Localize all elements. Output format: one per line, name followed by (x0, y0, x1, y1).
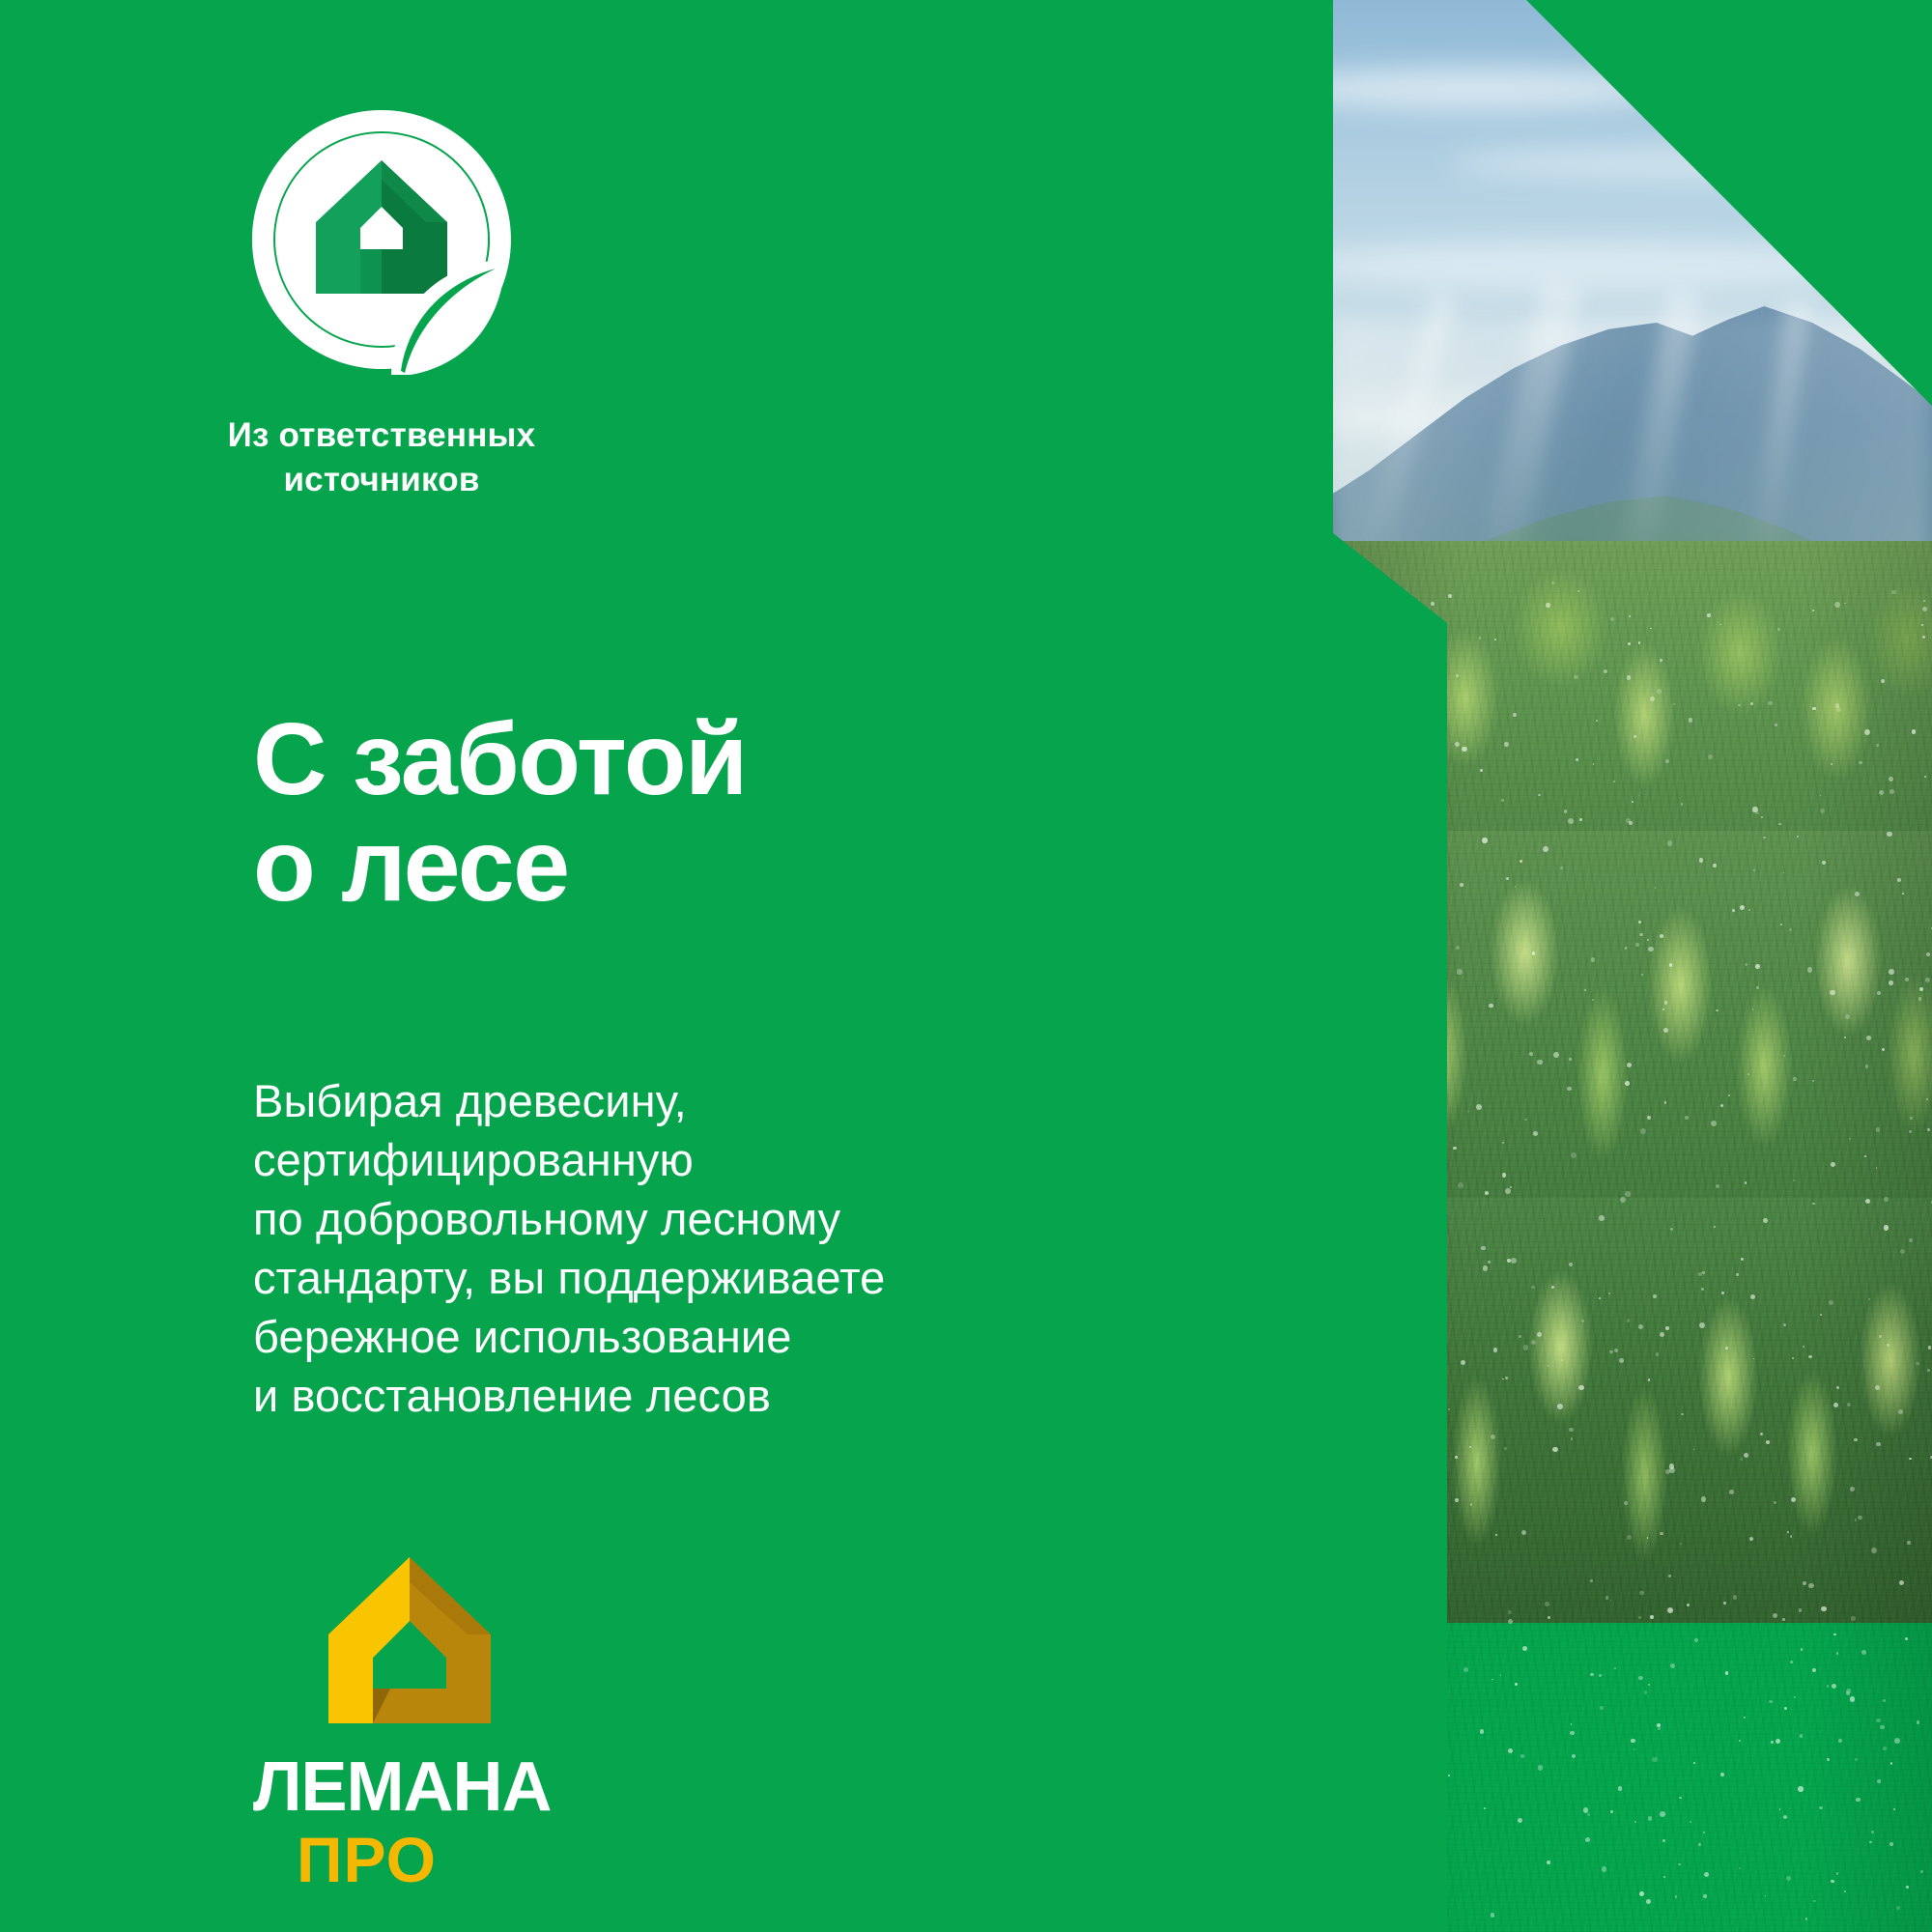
page-title: С заботой о лесе (253, 706, 1122, 919)
poster-root: Из ответственных источников С заботой о … (0, 0, 1932, 1932)
content-layer: Из ответственных источников С заботой о … (0, 0, 1449, 1932)
body-line-1: Выбирая древесину, (253, 1071, 1122, 1130)
body-line-2: сертифицированную (253, 1130, 1122, 1189)
brand-suffix-text: ПРО (297, 1824, 437, 1895)
eco-caption-line-1: Из ответственных (228, 416, 536, 454)
headline-line-1: С заботой (253, 702, 747, 816)
body-line-5: бережное использование (253, 1307, 1122, 1366)
lemana-house-icon (313, 1544, 506, 1737)
body-line-3: по добровольному лесному (253, 1189, 1122, 1248)
body-paragraph: Выбирая древесину, сертифицированную по … (253, 1071, 1122, 1426)
brand-name-text: ЛЕМАНА (253, 1750, 552, 1826)
headline-line-2: о лесе (253, 812, 1122, 919)
eco-house-leaf-circle-icon (246, 104, 517, 375)
body-line-6: и восстановление лесов (253, 1366, 1122, 1425)
brand-logo-lockup: ЛЕМАНА ПРО ЛЕМАНА ПРО (253, 1544, 678, 1895)
body-line-4: стандарту, вы поддерживаете (253, 1248, 1122, 1307)
eco-caption-line-2: источников (283, 461, 479, 498)
eco-badge-caption: Из ответственных источников (155, 413, 609, 501)
lemana-pro-wordmark: ЛЕМАНА ПРО (253, 1750, 572, 1895)
